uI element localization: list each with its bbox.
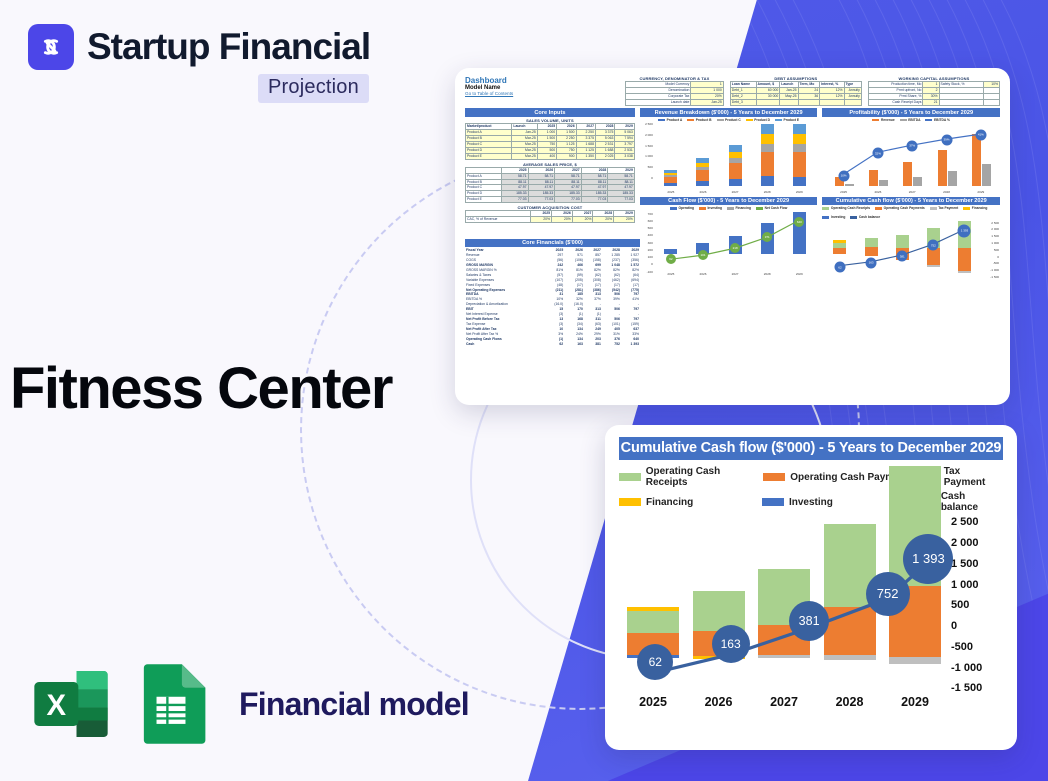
x-tick: 2027 [729,190,742,194]
currency-assumptions-block: CURRENCY, DENOMINATOR & TAX Model Curren… [625,76,724,106]
working-capital-block: WORKING CAPITAL ASSUMPTIONS Production t… [868,76,1000,106]
y-tick: 1 000 [991,241,999,245]
y-axis: 2 500 2 000 1 500 1 000 500 0 -500 -1 00… [945,513,1003,679]
y-tick: 600 [648,219,653,223]
legend-item: Tax Payment [930,206,959,210]
bar [761,124,774,186]
cell: Mar-25 [512,153,537,159]
cell: 21 [923,99,939,105]
cell: Cash [465,342,545,347]
x-tick: 2027 [729,272,742,276]
y-tick: 1 500 [645,144,653,148]
data-label: 62 [834,262,845,273]
working-capital-table: Production time, Mo 1 Safety Stock, % 10… [868,81,1000,106]
data-label-2027: 381 [789,601,829,641]
cumulative-cash-flow-card: Cumulative Cash flow ($'000) - 5 Years t… [605,425,1017,750]
cell: Product E [466,197,502,203]
brand-title: Startup Financial [87,26,370,68]
cac-table: 2025 2026 2027 2028 2029 CAC, % of Reven… [465,210,635,223]
data-label: 101 [698,250,708,260]
data-label-2026: 163 [712,625,750,663]
debt-assumptions-block: DEBT ASSUMPTIONS Loan Name Amount, $ Lau… [730,76,862,106]
profitability-x-axis: 2025 2026 2027 2028 2029 [826,190,998,194]
legend-label: Operating Cash Receipts [646,466,764,488]
data-label: 163 [866,257,877,268]
data-label: 39% [941,134,952,145]
google-sheets-icon [133,660,209,748]
table-row: Launch dateJan-25 [626,99,724,105]
chart-plot-area: 62 163 381 752 1 393 2 500 2 000 1 500 1… [619,521,1003,711]
cell: 900 [557,153,576,159]
cashflow-y-axis: 700 600 500 400 300 200 100 0 -100 [640,210,654,276]
x-tick: 2026 [696,272,709,276]
currency-table: Model Currency1 Denomination1 000 Corpor… [625,81,724,106]
y-tick: 200 [648,248,653,252]
y-tick: 300 [648,241,653,245]
data-label: 752 [928,240,939,251]
bar [664,124,677,186]
y-tick: 1 000 [951,579,979,591]
revenue-bars [655,124,816,186]
x-tick: 2027 [758,695,810,709]
cell: 20% [531,217,552,223]
sales-volume-table: Market/product Launch 2025 2026 2027 202… [465,123,635,160]
table-header-row: Market/product Launch 2025 2026 2027 202… [466,124,635,130]
cashflow-x-axis: 2025 2026 2027 2028 2029 [655,272,816,276]
y-tick: 1 500 [991,234,999,238]
infinity-logo-icon [28,24,74,70]
core-inputs-bar: Core Inputs [465,108,635,117]
y-tick: 700 [648,212,653,216]
dashboard-title: Dashboard [465,76,619,85]
legend-label: Financing [646,497,693,508]
data-label: 381 [897,251,908,262]
legend-label: Financing [972,206,988,210]
cell: 3 038 [615,153,634,159]
data-label-2028: 752 [866,572,910,616]
footer-label: Financial model [239,686,469,723]
profitability-plot: 10% 32% 37% 39% 41% 2025 2026 2027 2028 … [822,122,1000,194]
x-tick: 2025 [627,695,679,709]
footer-badges: X Financial model [27,660,469,748]
dashboard-screenshot-card: Dashboard Model Name Go to Table of Cont… [455,68,1010,405]
svg-text:X: X [47,689,67,722]
cell: 77.03 [528,197,555,203]
y-tick: 0 [951,620,957,632]
y-tick: 2 500 [951,516,979,528]
cell: 77.03 [555,197,582,203]
y-tick: 2 500 [645,122,653,126]
legend-label: Operating Cash Receipts [831,206,870,210]
table-row: Debt_3 [730,99,861,105]
cell: 752 [602,342,621,347]
net-cash-flow-line [655,212,816,266]
legend-label: Operating Cash Payments [884,206,925,210]
page-title: Fitness Center [10,355,392,422]
data-label: 218 [730,243,740,253]
cumulative-mini-bars: 62 163 381 752 1 393 [824,221,980,273]
dashboard-header-row: Dashboard Model Name Go to Table of Cont… [465,76,1000,106]
y-tick: 0 [997,255,999,259]
revenue-breakdown-title: Revenue Breakdown ($'000) - 5 Years to D… [640,108,818,117]
legend-item: Operating Cash Receipts [619,466,763,488]
cell: Jan-25 [691,99,723,105]
x-tick: 2029 [889,695,941,709]
revenue-x-axis: 2025 2026 2027 2028 2029 [655,190,816,194]
data-label: 1 393 [958,224,971,237]
legend-label: Tax Payment [938,206,958,210]
plot-bars-region: 62 163 381 752 1 393 [627,521,941,679]
data-label: 640 [794,217,804,227]
table-row: Product E77.0377.0377.0377.0377.03 [466,197,635,203]
y-tick: -1 500 [990,275,999,279]
average-price-table: 2025 2026 2027 2028 2029 Product A58.715… [465,167,635,204]
cell: 20% [572,217,593,223]
x-tick: 2027 [906,190,919,194]
cell: 381 [584,342,602,347]
y-tick: 0 [651,262,653,266]
core-financials-bar: Core Financials ($'000) [465,239,640,248]
dashboard-title-block: Dashboard Model Name Go to Table of Cont… [465,76,619,106]
chart-title: Cumulative Cash flow ($'000) - 5 Years t… [619,437,1003,460]
y-tick: 100 [648,255,653,259]
y-tick: -1 500 [951,682,982,694]
legend-label: Investing [789,497,833,508]
y-tick: -1 000 [990,268,999,272]
y-tick: -500 [993,261,999,265]
cell: 2 025 [595,153,614,159]
data-label: 32% [872,148,883,159]
cashflow-bars: 62 101 218 371 640 [655,212,816,264]
table-row: Cash Receipt Days 21 [868,99,999,105]
revenue-y-axis: 2 500 2 000 1 500 1 000 500 0 [640,122,654,194]
cumulative-mini-plot: 62 163 381 752 1 393 2 500 2 000 1 500 1… [822,219,1000,281]
cumulative-mini-title: Cumulative Cash flow ($'000) - 5 Years t… [822,197,1000,206]
x-tick: 2026 [696,190,709,194]
y-tick: -500 [951,641,973,653]
profitability-title: Profitability ($'000) - 5 Years to Decem… [822,108,1000,117]
cell: 20% [593,217,614,223]
profitability-chart: Revenue EBITDA EBITDA % 10% [822,118,1000,281]
y-tick: 500 [648,165,653,169]
y-tick: 500 [648,226,653,230]
x-tick: 2026 [693,695,745,709]
microsoft-excel-icon: X [27,660,115,748]
data-label: 371 [762,232,772,242]
cell: 1 393 [621,342,640,347]
profitability-bars: 10% 32% 37% 39% 41% [826,124,998,186]
bar [729,124,742,186]
x-tick: 2025 [837,190,850,194]
x-tick: 2025 [664,190,677,194]
x-tick: 2028 [761,190,774,194]
x-tick: 2029 [974,190,987,194]
data-label: 62 [666,254,676,264]
x-axis: 2025 2026 2027 2028 2029 [627,695,941,709]
x-tick: 2026 [871,190,884,194]
ebitda-pct-line [826,124,998,185]
data-label-2025: 62 [637,644,673,680]
cumulative-mini-legend: Operating Cash Receipts Operating Cash P… [822,206,1000,219]
y-tick: 400 [648,233,653,237]
cumulative-mini-y-axis: 2 500 2 000 1 500 1 000 500 0 -500 -1 00… [982,219,1000,281]
y-tick: -100 [647,270,653,274]
cell: Product E [466,153,512,159]
data-label: 37% [907,140,918,151]
cell: 77.03 [608,197,635,203]
chart-legend: Operating Cash Receipts Operating Cash P… [619,466,1003,513]
debt-table: Loan Name Amount, $ Launch Term, Mo Inte… [730,81,862,106]
cell: Launch date [626,99,691,105]
y-tick: 2 000 [645,133,653,137]
x-tick: 2025 [664,272,677,276]
data-label-2029: 1 393 [903,534,953,584]
legend-item: Operating Cash Receipts [822,206,870,210]
legend-item: Financing [619,491,762,513]
x-tick: 2029 [793,190,806,194]
y-tick: 2 500 [991,221,999,225]
cell: 163 [564,342,584,347]
table-row: CAC, % of Revenue20%20%20%20%20% [466,217,635,223]
table-row: Product EMar-254009001 3502 0253 038 [466,153,635,159]
cell: 62 [545,342,565,347]
cell: CAC, % of Revenue [466,217,531,223]
brand-logo: Startup Financial [28,24,370,70]
core-financials-table: Fiscal Year 2025 2026 2027 2028 2029 Rev… [465,248,640,347]
cell: 1 350 [576,153,595,159]
y-tick: 2 000 [991,227,999,231]
cell: Cash Receipt Days [868,99,923,105]
legend-item: Operating Cash Payments [875,206,925,210]
y-tick: 2 000 [951,537,979,549]
x-tick: 2028 [761,272,774,276]
y-tick: 500 [994,248,999,252]
y-tick: 1 000 [645,154,653,158]
revenue-breakdown-chart: Product A Product B Product C Product D … [640,118,818,281]
table-row: Cash621633817521 393 [465,342,640,347]
x-tick: 2029 [793,272,806,276]
cell: 20% [552,217,573,223]
currency-section-caption: CURRENCY, DENOMINATOR & TAX [625,76,724,81]
cash-flow-mini-title: Cash Flow ($'000) - 5 Years to December … [640,197,818,206]
cash-flow-mini-plot: 700 600 500 400 300 200 100 0 -100 [640,210,818,276]
legend-item: Financing [963,206,987,210]
y-tick: -1 000 [951,662,982,674]
legend-label: Tax Payment [944,466,1003,488]
x-tick: 2028 [940,190,953,194]
revenue-plot: 2 500 2 000 1 500 1 000 500 0 [640,122,818,194]
legend-label: Cash balance [941,491,1003,513]
y-tick: 1 500 [951,558,979,570]
data-label: 10% [838,170,849,181]
cell: 77.03 [581,197,608,203]
data-label: 41% [975,129,986,140]
y-tick: 0 [651,176,653,180]
cell: 20% [614,217,635,223]
y-tick: 500 [951,599,969,611]
brand-subtitle-badge: Projection [258,74,369,103]
cash-balance-line [824,221,980,272]
x-tick: 2028 [824,695,876,709]
table-of-contents-link[interactable]: Go to Table of Contents [465,91,619,96]
cell: 400 [537,153,556,159]
bar [696,124,709,186]
cell: Debt_3 [730,99,756,105]
bar [793,124,806,186]
cell: 77.03 [501,197,528,203]
